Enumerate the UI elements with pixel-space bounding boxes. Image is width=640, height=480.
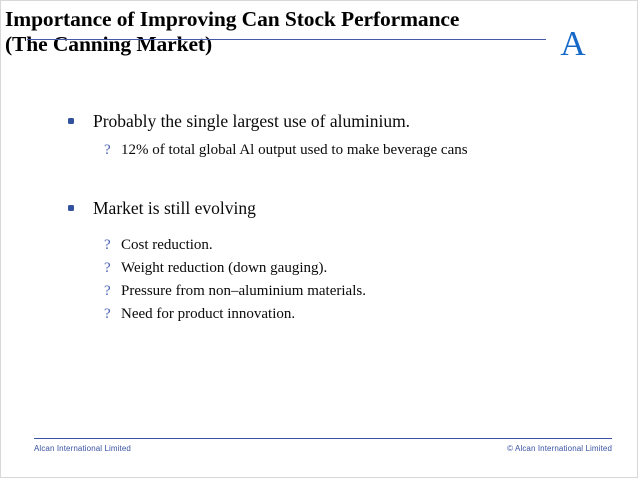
list-item-label: Pressure from non–aluminium materials.	[121, 280, 511, 303]
title-divider-rule	[27, 39, 546, 40]
question-mark-bullet-icon: ?	[104, 234, 111, 257]
question-mark-bullet-icon: ?	[104, 280, 111, 303]
spacer	[1, 220, 638, 234]
list-item: ? Cost reduction.	[1, 234, 638, 257]
list-item: ? Pressure from non–aluminium materials.	[1, 280, 638, 303]
spacer	[1, 162, 638, 196]
slide-title: Importance of Improving Can Stock Perfor…	[5, 7, 550, 57]
list-item: ? Need for product innovation.	[1, 303, 638, 326]
list-item-label: Market is still evolving	[93, 198, 256, 218]
title-line-1: Importance of Improving Can Stock Perfor…	[5, 7, 550, 32]
question-mark-bullet-icon: ?	[104, 257, 111, 280]
list-item-label: Probably the single largest use of alumi…	[93, 111, 410, 131]
list-item: Market is still evolving	[1, 196, 638, 220]
slide-canvas: Importance of Improving Can Stock Perfor…	[0, 0, 638, 478]
title-line-2: (The Canning Market)	[5, 32, 550, 57]
list-item: ? 12% of total global Al output used to …	[1, 139, 638, 162]
alcan-logo-icon: A	[555, 25, 591, 65]
footer-divider-rule	[34, 438, 612, 439]
list-item: ? Weight reduction (down gauging).	[1, 257, 638, 280]
list-item-label: Weight reduction (down gauging).	[121, 257, 511, 280]
square-bullet-icon	[68, 118, 74, 124]
question-mark-bullet-icon: ?	[104, 303, 111, 326]
footer-copyright-text: © Alcan International Limited	[507, 443, 612, 454]
square-bullet-icon	[68, 205, 74, 211]
footer-left-text: Alcan International Limited	[34, 443, 131, 454]
list-item: Probably the single largest use of alumi…	[1, 109, 638, 133]
slide-body: Probably the single largest use of alumi…	[1, 109, 638, 326]
list-item-label: Cost reduction.	[121, 234, 511, 257]
question-mark-bullet-icon: ?	[104, 139, 111, 162]
list-item-label: Need for product innovation.	[121, 303, 511, 326]
list-item-label: 12% of total global Al output used to ma…	[121, 139, 513, 162]
